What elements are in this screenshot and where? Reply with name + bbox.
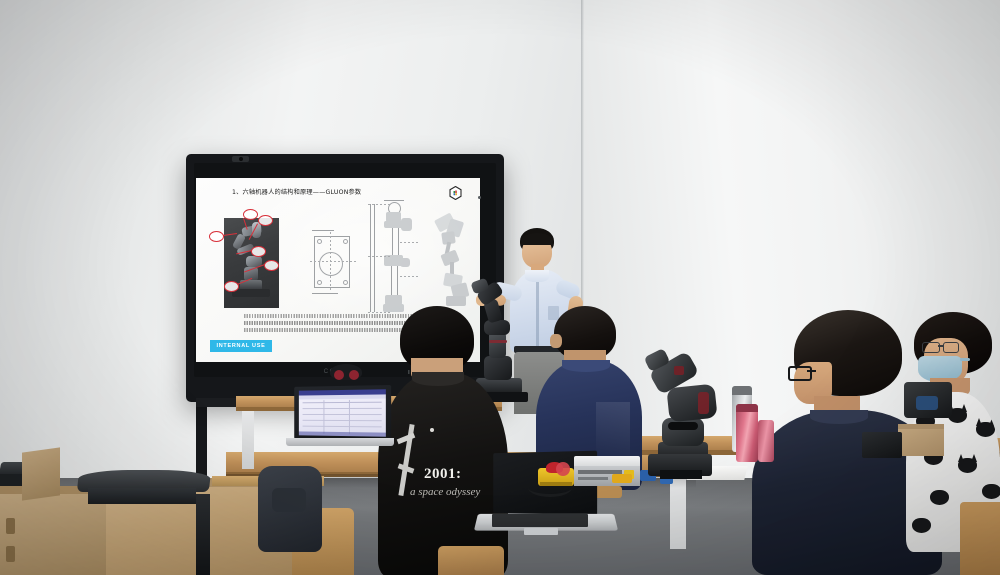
cad-iso-view bbox=[424, 214, 476, 312]
attendee-glasses-collar bbox=[810, 410, 868, 424]
box-left-handle-2 bbox=[6, 546, 15, 562]
equipment-black-box bbox=[862, 432, 902, 458]
laptop-keyboard[interactable] bbox=[492, 514, 588, 527]
ir-sensor-led bbox=[478, 196, 481, 199]
estop-dome bbox=[556, 462, 570, 476]
thermos-pink-cap bbox=[736, 404, 758, 412]
headphone-earcup-left bbox=[334, 370, 344, 380]
eyeglasses-icon bbox=[788, 366, 828, 378]
controller-unit bbox=[574, 456, 640, 488]
headphone-earcup-right bbox=[349, 370, 359, 380]
robot-arm-right bbox=[646, 346, 730, 466]
chair-far-right bbox=[960, 502, 1000, 575]
callout-j2 bbox=[264, 260, 279, 271]
eyeglasses-icon-woman bbox=[922, 342, 958, 351]
robot-right-accent bbox=[698, 392, 709, 414]
attendee-navy-shoulder-highlight bbox=[596, 402, 630, 458]
attendee-navy-ear bbox=[550, 334, 562, 348]
robot-base-plate bbox=[660, 470, 702, 479]
thermos-pink bbox=[736, 404, 758, 462]
callout-j3 bbox=[251, 246, 266, 257]
internal-use-badge: INTERNAL USE bbox=[210, 340, 272, 352]
attendee-navy-collar bbox=[562, 360, 610, 372]
thermos-pink-2 bbox=[758, 420, 774, 462]
monitor-stand-base bbox=[88, 488, 196, 504]
presenter-hairline bbox=[522, 233, 552, 245]
slide-title: 1、六轴机器人的结构和原理——GLUON参数 bbox=[232, 187, 447, 196]
callout-j6 bbox=[243, 209, 258, 220]
hexagon-brand-logo bbox=[449, 186, 462, 200]
cad-front-view bbox=[308, 230, 358, 298]
box-left-handle bbox=[6, 518, 15, 534]
face-mask-strap bbox=[960, 358, 970, 361]
backpack-pocket bbox=[272, 488, 306, 512]
laptop-left[interactable] bbox=[286, 386, 394, 448]
robot-far-right-accent bbox=[916, 396, 938, 410]
connector-yellow bbox=[612, 474, 632, 483]
desk-post-dark bbox=[196, 494, 210, 575]
webcam-lens-icon bbox=[239, 157, 243, 161]
callout-j5 bbox=[258, 215, 273, 226]
robot-right-marker bbox=[674, 366, 684, 375]
classroom-photo-scene: 1、六轴机器人的结构和原理——GLUON参数 bbox=[0, 0, 1000, 575]
robot-right-joint-band bbox=[668, 422, 698, 430]
callout-j1 bbox=[224, 281, 239, 292]
cardboard-box-small-flap bbox=[898, 424, 944, 429]
laptop-trackpad[interactable] bbox=[524, 528, 558, 535]
cardboard-box-left bbox=[0, 492, 106, 575]
desk-presenter-leg bbox=[242, 411, 254, 469]
wooden-chair-center-2 bbox=[438, 546, 504, 575]
cable-bundle bbox=[528, 478, 572, 497]
thermos-silver-cap bbox=[732, 386, 752, 395]
cardboard-flap-upper bbox=[22, 447, 60, 500]
attendee-black-shirt-collar bbox=[412, 372, 464, 386]
callout-j4 bbox=[209, 231, 224, 242]
